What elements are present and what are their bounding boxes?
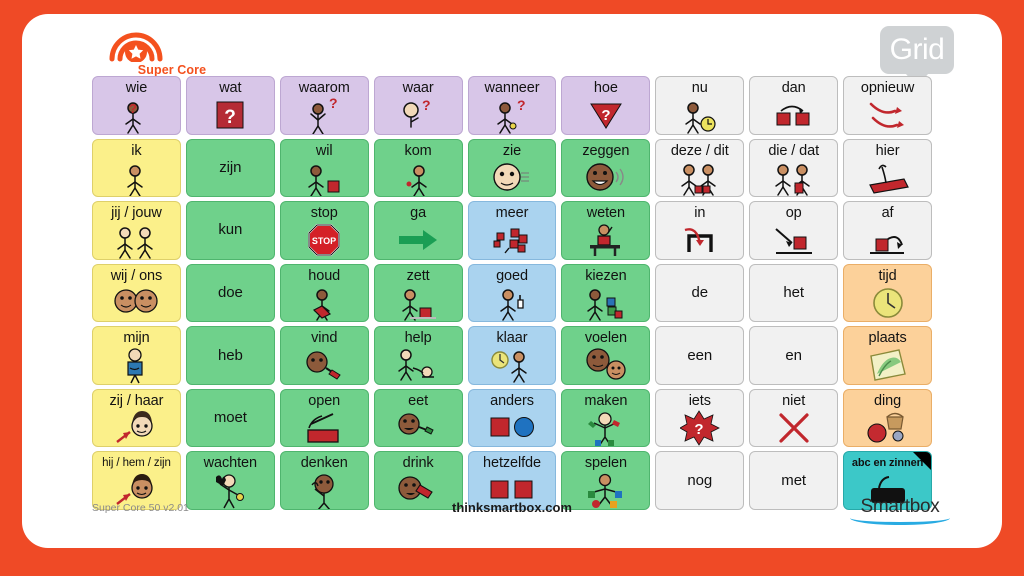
grid-cell-label: maken [584, 393, 627, 409]
clock-person-thumbs-up-icon [469, 346, 556, 385]
person-wanting-block-icon [281, 159, 368, 198]
grid-cell-houd[interactable]: houd [280, 264, 369, 323]
link-corner-fold-icon [913, 452, 931, 470]
grid-cell-dan[interactable]: dan [749, 76, 838, 135]
super-core-brand: Super Core [107, 22, 237, 77]
communication-board-page: Super Core Grid wie ?wat?waarom ?waar ?w… [22, 14, 1002, 548]
grid-cell-label: voelen [585, 330, 627, 346]
grid-cell-weten[interactable]: weten [561, 201, 650, 260]
person-watch-question-icon: ? [469, 96, 556, 135]
ball-basket-toy-icon [844, 409, 931, 447]
grid-cell-meer[interactable]: meer [468, 201, 557, 260]
grid-cell-hier[interactable]: hier [843, 139, 932, 198]
svg-text:?: ? [329, 96, 338, 111]
svg-text:?: ? [225, 107, 237, 128]
grid-cell-voelen[interactable]: voelen [561, 326, 650, 385]
grid-cell-label: vind [311, 330, 337, 346]
two-people-near-blocks-icon [656, 159, 743, 198]
person-helping-person-icon [375, 346, 462, 385]
grid-cell-label: kiezen [585, 268, 626, 284]
grid-cell-hoe[interactable]: hoe ? [561, 76, 650, 135]
grid-cell-tijd[interactable]: tijd [843, 264, 932, 323]
grid-cell-wanneer[interactable]: wanneer ? [468, 76, 557, 135]
grid-cell-label: een [687, 348, 712, 364]
arrow-into-container-icon [656, 221, 743, 259]
grid-cell-label: zeggen [582, 143, 629, 159]
svg-text:?: ? [129, 101, 137, 116]
grid-cell-label: anders [490, 393, 534, 409]
grid-cell-label: tijd [878, 268, 896, 284]
grid-cell-label: help [405, 330, 432, 346]
grid-cell-label: wanneer [485, 80, 540, 96]
grid-cell-label: nu [692, 80, 708, 96]
grid-cell-label: spelen [585, 455, 627, 471]
grid-cell-niet[interactable]: niet [749, 389, 838, 448]
two-people-pointing-icon [93, 221, 180, 260]
stop-sign-icon: STOP [281, 221, 368, 259]
grid-cell-open[interactable]: open [280, 389, 369, 448]
grid-cell-label: met [781, 473, 806, 489]
grid-cell-label: stop [311, 205, 338, 221]
red-question-box-icon: ? [187, 96, 274, 134]
grid-cell-label: zij / haar [110, 393, 164, 409]
grid-cell-goed[interactable]: goed [468, 264, 557, 323]
grid-cell-nu[interactable]: nu [655, 76, 744, 135]
arrow-to-woman-icon [93, 409, 180, 447]
grid-cell-label: doe [218, 285, 243, 301]
grid-cell-maken[interactable]: maken [561, 389, 650, 448]
grid-cell-zett[interactable]: zett [374, 264, 463, 323]
hand-on-mat-icon [844, 159, 931, 197]
grid-cell-label: heb [218, 348, 243, 364]
person-question-icon: ? [93, 96, 180, 135]
grid-cell-label: deze / dit [671, 143, 729, 159]
grid-cell-zijn[interactable]: zijn [186, 139, 275, 198]
person-making-icon [562, 409, 649, 448]
grid-cell-vind[interactable]: vind [280, 326, 369, 385]
grid-cell-ga[interactable]: ga [374, 201, 463, 260]
two-blocks-arrow-icon [750, 96, 837, 134]
grid-cell-label: dan [782, 80, 806, 96]
red-burst-question-icon: ? [656, 409, 743, 447]
super-core-star-radiate-icon [107, 22, 237, 62]
grid-cell-plaats[interactable]: plaats [843, 326, 932, 385]
grid-cell-deze-dit[interactable]: deze / dit [655, 139, 744, 198]
red-square-blue-circle-icon [469, 409, 556, 447]
grid-cell-label: kun [218, 222, 242, 238]
grid-cell-label: hij / hem / zijn [102, 455, 171, 471]
person-placing-block-icon [375, 284, 462, 323]
grid-cell-label: drink [403, 455, 434, 471]
board-footer: Super Core 50 v2.01 thinksmartbox.com Sm… [22, 496, 1002, 540]
grid-cell-label: open [308, 393, 340, 409]
grid-cell-label: weten [587, 205, 625, 221]
grid-cell-label: zijn [219, 160, 241, 176]
grid-cell-een[interactable]: een [655, 326, 744, 385]
person-eating-icon [375, 409, 462, 447]
grid-cell-stop[interactable]: stop STOP [280, 201, 369, 260]
person-thinking-question-icon: ? [281, 96, 368, 135]
grid-cell-label: denken [301, 455, 348, 471]
grid-cell-moet[interactable]: moet [186, 389, 275, 448]
grid-cell-heb[interactable]: heb [186, 326, 275, 385]
grid-cell-label: niet [782, 393, 805, 409]
grid-cell-label: houd [308, 268, 340, 284]
grid-cell-die-dat[interactable]: die / dat [749, 139, 838, 198]
grid-cell-label: wij / ons [111, 268, 162, 284]
person-hand-chest-icon [93, 346, 180, 385]
person-coming-icon [375, 159, 462, 198]
person-at-desk-icon [562, 221, 649, 259]
grid-cell-label: wachten [204, 455, 257, 471]
grid-cell-opnieuw[interactable]: opnieuw [843, 76, 932, 135]
many-red-blocks-icon [469, 221, 556, 259]
grid-cell-label: af [882, 205, 894, 221]
svg-text:STOP: STOP [312, 236, 336, 246]
grid-cell-label: jij / jouw [111, 205, 162, 221]
grid-cell-mijn[interactable]: mijn [92, 326, 181, 385]
grid-cell-label: het [783, 285, 804, 301]
grid-cell-label: wil [316, 143, 333, 159]
grid-cell-label: zie [503, 143, 521, 159]
grid-cell-ik[interactable]: ik [92, 139, 181, 198]
smartbox-logo: Smartbox [846, 496, 954, 525]
person-pointing-self-icon [93, 159, 180, 198]
grid-cell-label: plaats [869, 330, 907, 346]
smartbox-swoosh-icon [850, 518, 950, 525]
grid-cell-label: klaar [497, 330, 528, 346]
grid-cell-in[interactable]: in [655, 201, 744, 260]
grid-cell-label: goed [496, 268, 528, 284]
grid-cell-label: mijn [123, 330, 149, 346]
opening-lid-box-icon [281, 409, 368, 447]
grid-cell-het[interactable]: het [749, 264, 838, 323]
person-magnifier-icon [281, 346, 368, 384]
grid-cell-op[interactable]: op [749, 201, 838, 260]
grid-cell-label: wat [219, 80, 241, 96]
grid-cell-label: de [692, 285, 709, 301]
grid-cell-label: waar [403, 80, 434, 96]
grid-cell-jij-jouw[interactable]: jij / jouw [92, 201, 181, 260]
grid-cell-label: opnieuw [861, 80, 914, 96]
grid-cell-label: nog [687, 473, 712, 489]
grid-cell-kom[interactable]: kom [374, 139, 463, 198]
grid-cell-label: ga [410, 205, 426, 221]
face-speaking-icon [562, 159, 649, 197]
grid-logo-text: Grid [880, 26, 954, 74]
grid-cell-doe[interactable]: doe [186, 264, 275, 323]
person-thumbs-up-icon [469, 284, 556, 323]
grid-cell-label: en [785, 348, 802, 364]
two-faces-icon [93, 284, 180, 322]
grid-cell-label: ding [874, 393, 901, 409]
clock-icon [844, 284, 931, 322]
person-clock-icon [656, 96, 743, 135]
orange-frame: Super Core Grid wie ?wat?waarom ?waar ?w… [0, 0, 1024, 576]
grid-cell-label: die / dat [768, 143, 819, 159]
grid-cell-klaar[interactable]: klaar [468, 326, 557, 385]
grid-cell-label: moet [214, 410, 247, 426]
svg-text:?: ? [601, 107, 610, 124]
symbol-grid: wie ?wat?waarom ?waar ?wanneer ?hoe ?nu [92, 76, 932, 510]
person-holding-icon [281, 284, 368, 323]
grid-cell-label: ik [131, 143, 141, 159]
grid-cell-zij-haar[interactable]: zij / haar [92, 389, 181, 448]
grid-cell-label: wie [126, 80, 147, 96]
grid-cell-label: eet [408, 393, 428, 409]
face-eyes-icon [469, 159, 556, 197]
green-arrow-right-icon [375, 221, 462, 259]
grid-cell-wil[interactable]: wil [280, 139, 369, 198]
person-choosing-blocks-icon [562, 284, 649, 323]
svg-text:?: ? [694, 421, 703, 438]
grid-cell-label: meer [496, 205, 529, 221]
grid-cell-label: in [694, 205, 705, 221]
svg-text:?: ? [422, 97, 431, 113]
grid-cell-kun[interactable]: kun [186, 201, 275, 260]
grid-cell-de[interactable]: de [655, 264, 744, 323]
grid-cell-label: op [786, 205, 802, 221]
grid-cell-wij-ons[interactable]: wij / ons [92, 264, 181, 323]
smartbox-wordmark: Smartbox [846, 496, 954, 518]
person-looking-question-icon: ? [375, 96, 462, 135]
grid-cell-ding[interactable]: ding [843, 389, 932, 448]
grid-cell-zeggen[interactable]: zeggen [561, 139, 650, 198]
svg-text:?: ? [517, 97, 526, 113]
grid-cell-wie[interactable]: wie ? [92, 76, 181, 135]
grid-cell-label: waarom [299, 80, 350, 96]
grid-cell-label: iets [689, 393, 711, 409]
grid-cell-zie[interactable]: zie [468, 139, 557, 198]
grid-cell-af[interactable]: af [843, 201, 932, 260]
grid-cell-waar[interactable]: waar ? [374, 76, 463, 135]
board-header: Super Core Grid [22, 14, 1002, 76]
arrow-onto-block-icon [750, 221, 837, 259]
two-people-far-block-icon [750, 159, 837, 198]
grid-cell-label: kom [405, 143, 432, 159]
grid-cell-en[interactable]: en [749, 326, 838, 385]
map-scroll-icon [844, 346, 931, 384]
grid-cell-wat[interactable]: wat? [186, 76, 275, 135]
two-curved-arrows-icon [844, 96, 931, 134]
grid-cell-anders[interactable]: anders [468, 389, 557, 448]
brand-name: Super Core [107, 63, 237, 77]
grid-cell-eet[interactable]: eet [374, 389, 463, 448]
red-triangle-question-icon: ? [562, 96, 649, 134]
grid-cell-help[interactable]: help [374, 326, 463, 385]
grid-cell-waarom[interactable]: waarom ? [280, 76, 369, 135]
grid-cell-label: hoe [594, 80, 618, 96]
grid-cell-label: hier [876, 143, 900, 159]
grid-cell-label: hetzelfde [483, 455, 541, 471]
two-faces-emotion-icon [562, 346, 649, 384]
red-cross-icon [750, 409, 837, 447]
grid-cell-iets[interactable]: iets ? [655, 389, 744, 448]
grid-cell-kiezen[interactable]: kiezen [561, 264, 650, 323]
grid-cell-label: zett [407, 268, 430, 284]
arrow-off-block-icon [844, 221, 931, 259]
